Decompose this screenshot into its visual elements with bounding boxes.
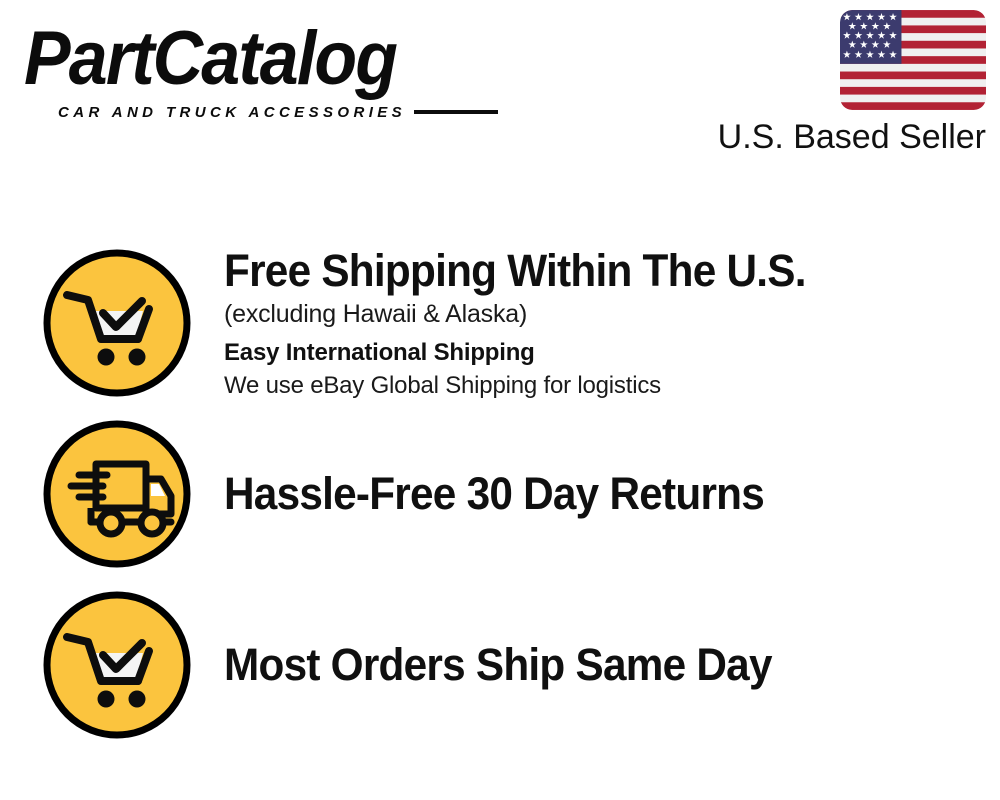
feature-title: Most Orders Ship Same Day — [224, 639, 935, 691]
partcatalog-logo: PartCatalog CAR AND TRUCK ACCESSORIES — [24, 20, 494, 120]
feature-icon — [41, 418, 193, 570]
us-based-seller-block: U.S. Based Seller — [706, 10, 986, 156]
us-flag-icon — [840, 10, 986, 110]
us-based-seller-label: U.S. Based Seller — [718, 118, 986, 156]
feature-row: Most Orders Ship Same Day — [0, 589, 1000, 741]
brand-rule-divider — [414, 110, 498, 114]
feature-text: Free Shipping Within The U.S. (excluding… — [224, 245, 1000, 402]
delivery-truck-icon — [41, 418, 193, 570]
brand-wordmark: PartCatalog — [24, 20, 456, 98]
feature-subtitle: (excluding Hawaii & Alaska) — [224, 297, 980, 331]
feature-title: Free Shipping Within The U.S. — [224, 245, 935, 297]
banner-header: PartCatalog CAR AND TRUCK ACCESSORIES — [0, 0, 1000, 175]
feature-title: Hassle-Free 30 Day Returns — [224, 468, 935, 520]
feature-icon — [41, 589, 193, 741]
brand-tagline: CAR AND TRUCK ACCESSORIES — [58, 104, 406, 121]
feature-row: Free Shipping Within The U.S. (excluding… — [0, 247, 1000, 399]
feature-secondary-text: We use eBay Global Shipping for logistic… — [224, 369, 980, 402]
feature-list: Free Shipping Within The U.S. (excluding… — [0, 175, 1000, 800]
shipping-info-banner: PartCatalog CAR AND TRUCK ACCESSORIES — [0, 0, 1000, 800]
feature-icon — [41, 247, 193, 399]
brand-tagline-row: CAR AND TRUCK ACCESSORIES — [58, 104, 498, 121]
shopping-cart-check-icon — [41, 247, 193, 399]
feature-secondary-title: Easy International Shipping — [224, 337, 980, 369]
shopping-cart-check-icon — [41, 589, 193, 741]
feature-text: Hassle-Free 30 Day Returns — [224, 468, 1000, 520]
feature-row: Hassle-Free 30 Day Returns — [0, 418, 1000, 570]
feature-text: Most Orders Ship Same Day — [224, 639, 1000, 691]
